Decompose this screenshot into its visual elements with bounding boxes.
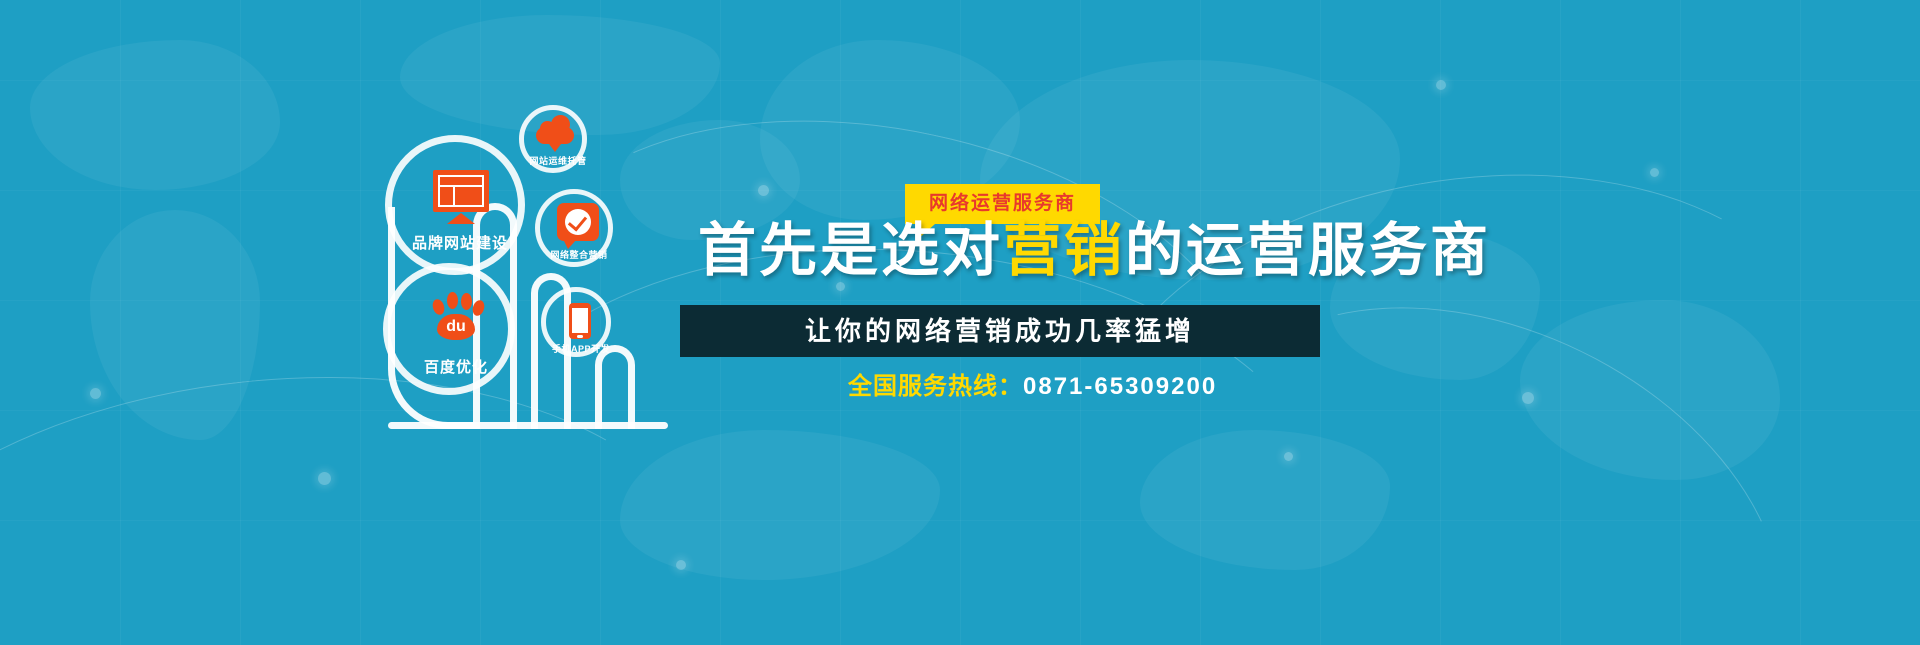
monitor-icon [433,170,489,224]
headline-highlight: 营销 [1003,218,1125,283]
tree-stem-right [595,345,635,429]
headline-part1: 首先是选对 [698,218,1003,283]
tree-node-website-label: 品牌网站建设 [380,232,540,253]
tree-node-app[interactable]: 手机APP开发 [541,287,611,357]
tree-node-marketing-label: 网络整合营销 [526,248,632,261]
tree-node-hosting-label: 网站运维托管 [506,154,610,167]
tree-node-baidu[interactable]: du 百度优化 [383,263,515,395]
cloud-icon [536,118,574,148]
baidu-paw-icon-text: du [446,319,466,335]
mobile-phone-icon [569,303,591,339]
headline: 首先是选对营销的运营服务商 [698,222,1491,280]
hotline-number[interactable]: 0871-65309200 [1023,373,1217,400]
promo-banner: 品牌网站建设 du 百度优化 网站运维托管 网络 [0,0,1920,645]
tree-node-hosting[interactable]: 网站运维托管 [519,105,587,173]
check-bubble-icon [557,203,599,249]
hotline: 全国服务热线：0871-65309200 [848,375,1217,399]
tree-node-baidu-label: 百度优化 [376,356,536,377]
subheadline-bar: 让你的网络营销成功几率猛增 [680,305,1320,357]
tree-node-website[interactable]: 品牌网站建设 [385,135,525,275]
service-tree-graphic: 品牌网站建设 du 百度优化 网站运维托管 网络 [355,95,695,430]
hotline-label: 全国服务热线： [848,373,1023,400]
tree-node-marketing[interactable]: 网络整合营销 [535,189,613,267]
baidu-paw-icon: du [429,292,483,344]
subheadline-text: 让你的网络营销成功几率猛增 [805,318,1195,344]
tree-node-app-label: 手机APP开发 [532,342,630,355]
headline-part2: 的运营服务商 [1125,218,1491,283]
